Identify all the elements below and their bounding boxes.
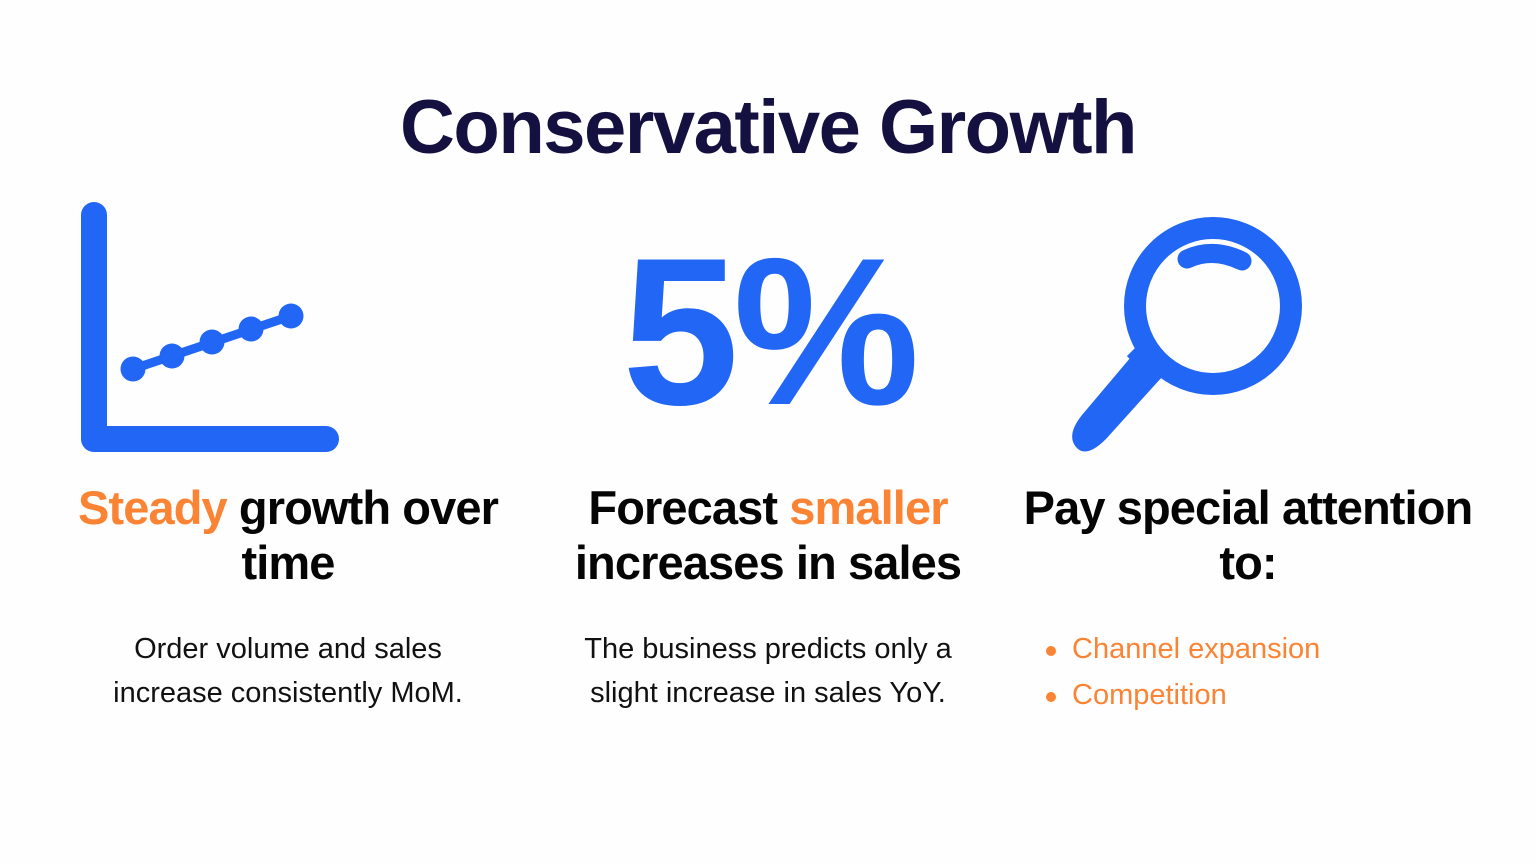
columns-container: Steady growth over time Order volume and… [62,196,1474,735]
magnifying-glass-icon-wrapper [1022,196,1474,468]
column-heading-attention: Pay special attention to: [1022,480,1474,591]
heading-part-increases: increases in sales [575,536,961,589]
column-steady-growth: Steady growth over time Order volume and… [62,196,514,715]
percent-stat-value: 5% [622,227,914,437]
column-body-steady-growth: Order volume and sales increase consiste… [78,627,498,715]
list-item: Competition [1038,673,1320,719]
percent-stat-wrapper: 5% [542,196,994,468]
heading-part-forecast: Forecast [588,481,789,534]
column-heading-forecast: Forecast smaller increases in sales [542,480,994,591]
line-chart-icon-wrapper [62,196,514,468]
column-attention: Pay special attention to: Channel expans… [1022,196,1474,735]
column-body-forecast: The business predicts only a slight incr… [558,627,978,715]
magnifying-glass-icon [1050,201,1312,463]
slide-root: Conservative Growth Steady [0,0,1536,864]
heading-highlight-smaller: smaller [789,481,947,534]
column-forecast: 5% Forecast smaller increases in sales T… [542,196,994,715]
list-item: Channel expansion [1038,627,1320,673]
column-heading-steady-growth: Steady growth over time [62,480,514,591]
attention-bullet-list: Channel expansion Competition [1038,627,1320,719]
heading-highlight-steady: Steady [78,481,227,534]
page-title: Conservative Growth [0,88,1536,168]
heading-rest-steady: growth over time [227,481,498,589]
line-chart-icon [80,201,340,463]
